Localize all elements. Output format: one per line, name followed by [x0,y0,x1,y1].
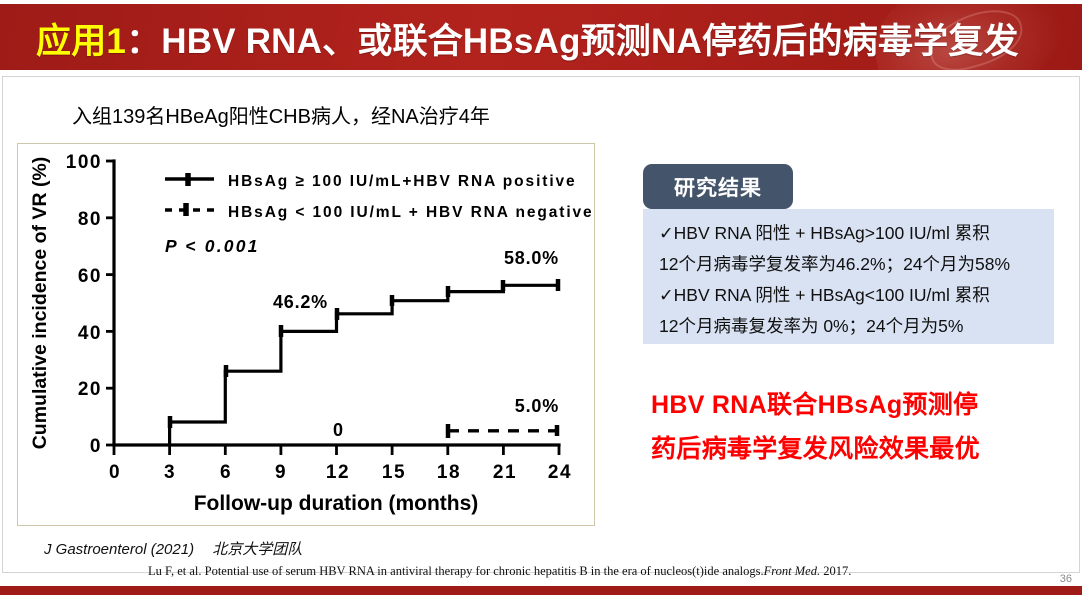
svg-text:60: 60 [78,266,102,287]
chart-y-tick-labels: 100 80 60 40 20 0 [66,152,102,457]
chart-legend: HBsAg ≥ 100 IU/mL+HBV RNA positive HBsAg… [165,173,594,256]
chart-x-tick-labels: 0 3 6 9 12 15 18 21 24 [109,462,572,483]
results-badge: 研究结果 [643,164,793,209]
annotation-5-0: 5.0% [515,396,559,416]
bottom-accent-bar [0,586,1082,595]
svg-text:15: 15 [382,462,406,483]
results-line-1: ✓HBV RNA 阳性 + HBsAg>100 IU/ml 累积 [659,218,1042,249]
series-hbsag-low-negative [448,424,558,438]
svg-text:0: 0 [90,436,102,457]
svg-text:0: 0 [109,462,121,483]
citation-primary: J Gastroenterol (2021) 北京大学团队 [44,538,302,559]
citation-reference-journal: Front Med. [764,564,820,578]
conclusion-text: HBV RNA联合HBsAg预测停 药后病毒学复发风险效果最优 [651,383,1061,471]
svg-text:40: 40 [78,323,102,344]
chart-pvalue: P < 0.001 [165,236,260,256]
page-title-rest: ：HBV RNA、或联合HBsAg预测NA停药后的病毒学复发 [126,13,1019,64]
citation-reference-year: 2017. [823,564,851,578]
conclusion-line-2: 药后病毒学复发风险效果最优 [651,427,1061,471]
results-line-3: ✓HBV RNA 阴性 + HBsAg<100 IU/ml 累积 [659,280,1042,311]
results-line-2: 12个月病毒学复发率为46.2%；24个月为58% [659,249,1042,280]
study-subtitle: 入组139名HBeAg阳性CHB病人，经NA治疗4年 [72,100,490,129]
chart-xlabel: Follow-up duration (months) [194,492,479,515]
chart-ylabel: Cumulative incidence of VR (%) [29,157,51,450]
citation-journal: J Gastroenterol (2021) [44,541,194,558]
legend-label-2: HBsAg < 100 IU/mL + HBV RNA negative [228,204,594,221]
svg-text:3: 3 [164,462,176,483]
chart-svg: 100 80 60 40 20 0 0 [18,144,594,525]
citation-reference: Lu F, et al. Potential use of serum HBV … [148,564,851,579]
annotation-zero: 0 [333,420,343,440]
annotation-46-2: 46.2% [273,292,328,312]
slide: 应用1：HBV RNA、或联合HBsAg预测NA停药后的病毒学复发 入组139名… [0,0,1082,595]
series-hbsag-high-positive [170,279,559,445]
results-line-4: 12个月病毒复发率为 0%；24个月为5% [659,311,1042,342]
svg-text:18: 18 [437,462,461,483]
chart-annotations: 46.2% 58.0% 0 5.0% [273,248,559,440]
svg-text:9: 9 [275,462,287,483]
conclusion-line-1: HBV RNA联合HBsAg预测停 [651,383,1061,427]
svg-text:6: 6 [220,462,232,483]
svg-text:21: 21 [493,462,517,483]
svg-text:24: 24 [548,462,572,483]
svg-text:100: 100 [66,152,102,173]
legend-key-dashed-icon [165,203,214,216]
series2-censor-marks [448,424,557,438]
kaplan-meier-chart: 100 80 60 40 20 0 0 [17,143,595,526]
svg-text:12: 12 [326,462,350,483]
annotation-58-0: 58.0% [504,248,559,268]
citation-reference-text: Lu F, et al. Potential use of serum HBV … [148,564,764,578]
legend-label-1: HBsAg ≥ 100 IU/mL+HBV RNA positive [228,173,577,190]
page-title: 应用1：HBV RNA、或联合HBsAg预测NA停药后的病毒学复发 [36,12,1019,64]
legend-key-solid-icon [165,173,214,186]
page-number: 36 [1060,573,1072,585]
citation-team: 北京大学团队 [212,541,302,558]
slide-header: 应用1：HBV RNA、或联合HBsAg预测NA停药后的病毒学复发 [0,4,1082,70]
svg-text:20: 20 [78,379,102,400]
page-title-highlight: 应用1 [36,13,126,64]
svg-text:80: 80 [78,209,102,230]
results-badge-label: 研究结果 [674,172,762,202]
results-panel: ✓HBV RNA 阳性 + HBsAg>100 IU/ml 累积 12个月病毒学… [643,209,1054,344]
series1-censor-marks [170,279,558,428]
